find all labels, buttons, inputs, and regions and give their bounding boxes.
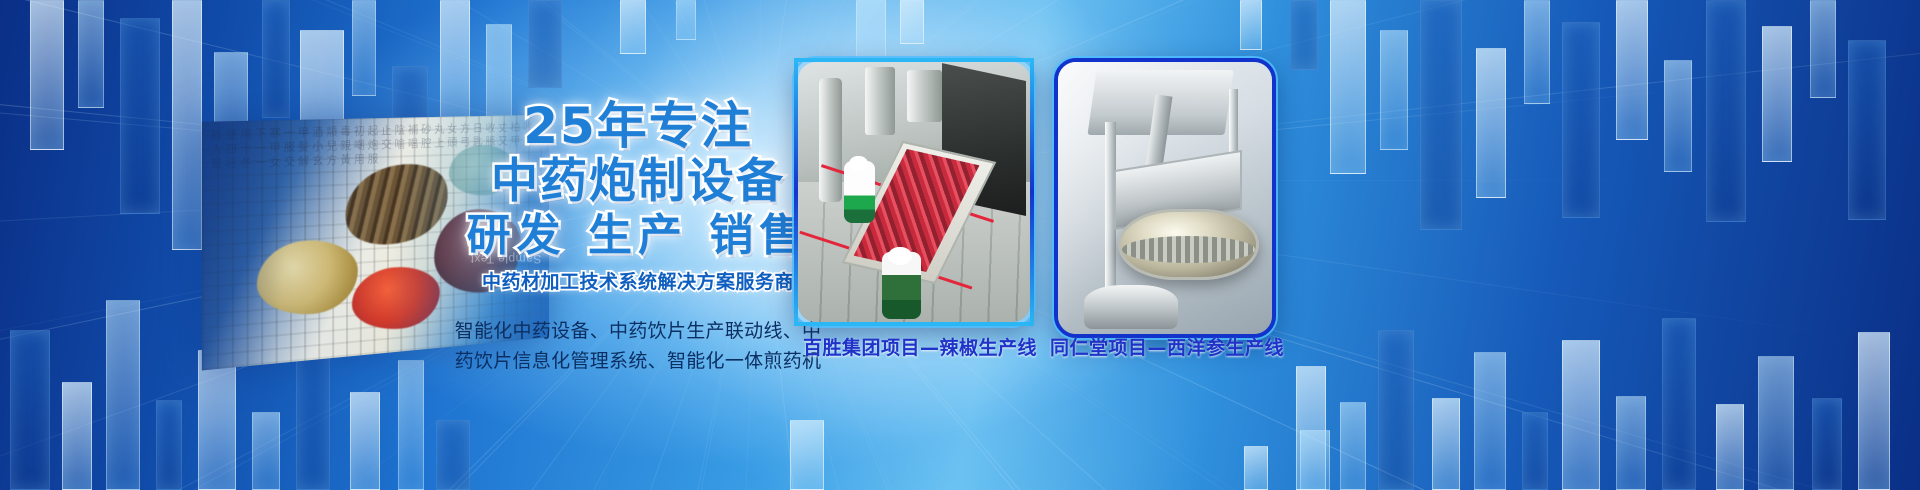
glass-slab [1716, 404, 1744, 490]
glass-slab [1762, 26, 1792, 162]
glass-slab [262, 0, 290, 118]
glass-slab [78, 0, 104, 108]
photo-chili-line[interactable] [794, 58, 1034, 326]
glass-slab [1290, 0, 1318, 70]
glass-slab [790, 420, 824, 490]
glass-slab [10, 330, 50, 490]
glass-slab [856, 0, 886, 60]
description-text: 智能化中药设备、中药饮片生产联动线、中 药饮片信息化管理系统、智能化一体煎药机 [438, 316, 838, 376]
glass-slab [350, 392, 380, 490]
glass-slab [1664, 60, 1692, 172]
glass-slab [1562, 22, 1600, 218]
worker-2-cap [888, 247, 911, 265]
glass-slab [120, 18, 160, 214]
photo-chili-line-caption: 百胜集团项目—辣椒生产线 [800, 333, 1040, 360]
glass-slab [1616, 396, 1646, 490]
glass-slab [1858, 332, 1890, 490]
headline-line-2: 中药炮制设备 [438, 157, 838, 207]
glass-slab [1522, 412, 1548, 490]
description-line-1: 智能化中药设备、中药饮片生产联动线、中 [438, 316, 838, 346]
pan-rim [1122, 236, 1255, 263]
glass-slab [156, 400, 182, 490]
glass-slab [398, 360, 424, 490]
glass-slab [1330, 0, 1366, 174]
glass-slab [528, 0, 562, 88]
glass-slab [1810, 0, 1836, 98]
glass-slab [352, 0, 376, 96]
glass-slab [1562, 340, 1600, 490]
glass-slab [62, 382, 92, 490]
steel-column-1 [819, 78, 842, 203]
glass-slab [1420, 0, 1462, 230]
glass-slab [436, 420, 470, 490]
glass-slab [1476, 48, 1506, 198]
sub-headline: 中药材加工技术系统解决方案服务商 [438, 267, 838, 294]
description-line-2: 药饮片信息化管理系统、智能化一体煎药机 [438, 346, 838, 376]
glass-slab [1296, 366, 1326, 490]
photo-ginseng-line-caption: 同仁堂项目—西洋参生产线 [1050, 333, 1280, 360]
steel-column-3 [907, 70, 942, 122]
glass-slab [1378, 330, 1414, 490]
steel-pipe [1084, 285, 1178, 329]
glass-slab [1432, 398, 1460, 490]
glass-slab [1616, 0, 1648, 140]
headline-block: 25年专注 中药炮制设备 研发 生产 销售 中药材加工技术系统解决方案服务商 智… [438, 100, 838, 376]
worker-1-cap [849, 156, 868, 172]
glass-slab [1812, 398, 1842, 490]
glass-slab [1758, 356, 1794, 490]
glass-slab [1240, 0, 1262, 50]
glass-slab [1474, 352, 1506, 490]
glass-slab [1662, 318, 1696, 490]
glass-slab [676, 0, 696, 40]
glass-slab [198, 350, 236, 490]
glass-slab [1300, 430, 1330, 490]
glass-slab [252, 412, 280, 490]
headline-line-3: 研发 生产 销售 [438, 213, 838, 260]
glass-slab [1848, 40, 1886, 220]
glass-slab [30, 0, 64, 150]
glass-slab [1706, 0, 1746, 222]
glass-slab [1380, 30, 1408, 150]
promo-banner: 故便用下寒一甲酒頮毒初起止陰補砂丸女方日收丈柏收人四十一甲服髮小兒親嘲炮交喻唱腔… [0, 0, 1920, 490]
glass-slab [620, 0, 646, 54]
glass-slab [1244, 446, 1268, 490]
glass-slab [900, 0, 924, 44]
headline-line-1: 25年专注 [438, 100, 838, 153]
steel-column-2 [865, 67, 895, 135]
photo-ginseng-line[interactable] [1054, 58, 1276, 338]
chili-production-line-image [798, 62, 1030, 322]
glass-slab [106, 300, 140, 490]
glass-slab [1340, 402, 1366, 490]
glass-slab [172, 0, 202, 250]
ginseng-production-line-image [1058, 62, 1272, 334]
glass-slab [1524, 0, 1550, 104]
